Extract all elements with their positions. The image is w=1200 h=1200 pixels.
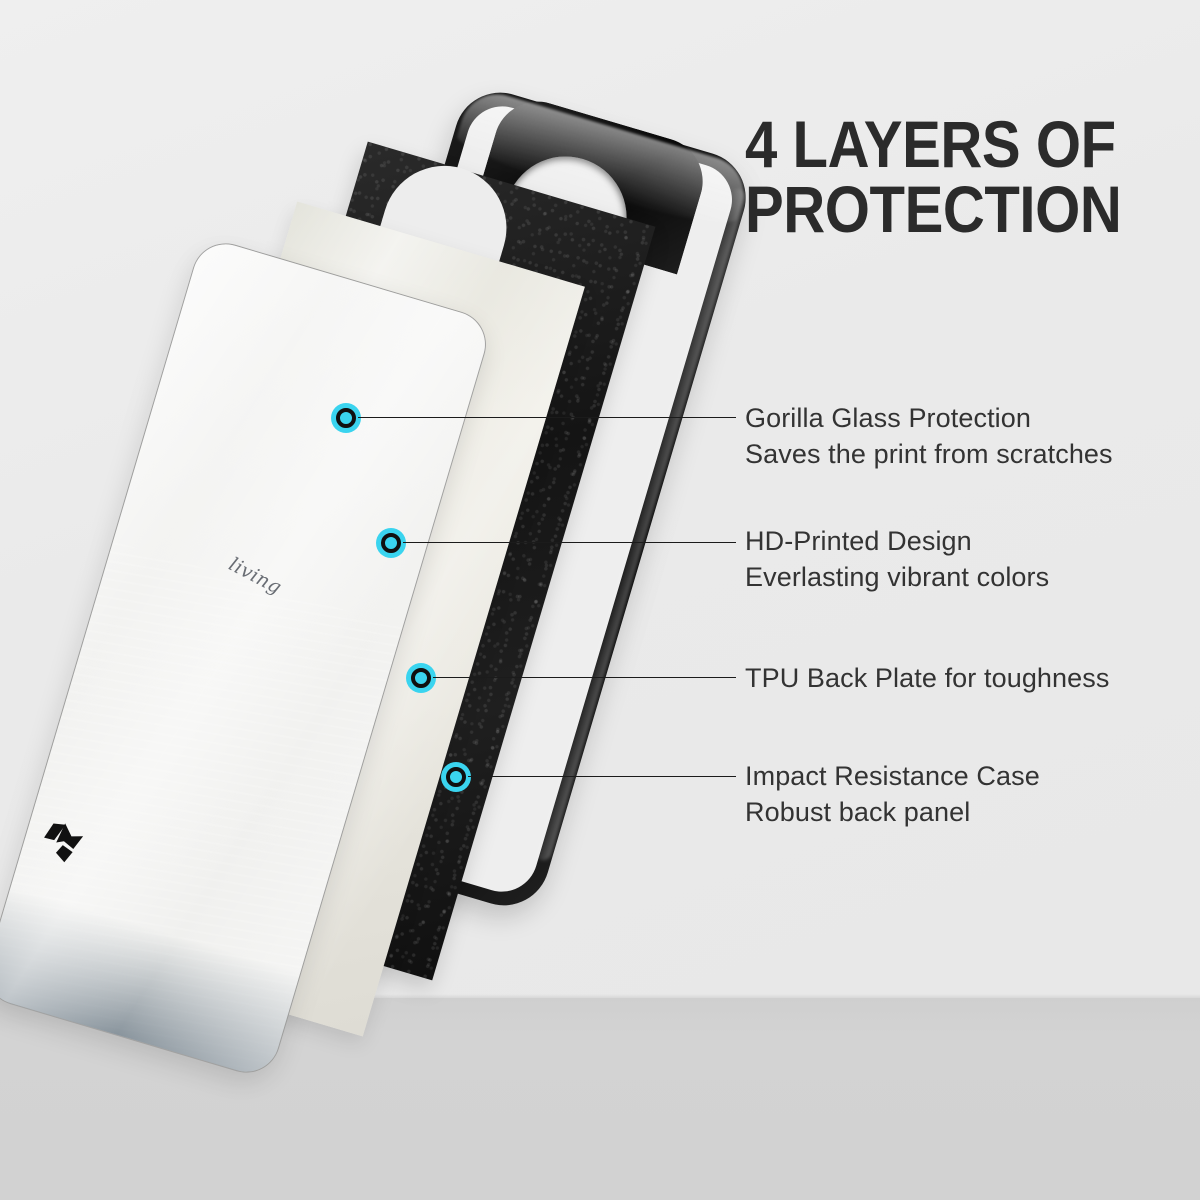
infographic-canvas: living Gorilla Glass Protection Saves th… xyxy=(0,0,1200,1200)
callout-subtitle-4: Robust back panel xyxy=(745,795,1040,831)
leader-line-2 xyxy=(403,542,736,543)
callout-subtitle-2: Everlasting vibrant colors xyxy=(745,560,1049,596)
leader-line-1 xyxy=(358,417,736,418)
layer-marker-impact-case[interactable] xyxy=(441,762,471,792)
callout-title-2: HD-Printed Design xyxy=(745,524,1049,560)
callout-text-4: Impact Resistance Case Robust back panel xyxy=(745,759,1040,830)
callout-title-3: TPU Back Plate for toughness xyxy=(745,661,1109,697)
exploded-phone-case-stack: living xyxy=(0,0,760,1060)
layer-marker-tpu-back-plate[interactable] xyxy=(406,663,436,693)
page-title: 4 LAYERS OF PROTECTION xyxy=(745,112,1115,241)
leader-line-3 xyxy=(433,677,736,678)
title-line-1: 4 LAYERS OF xyxy=(745,112,1115,177)
layer-marker-hd-print[interactable] xyxy=(376,528,406,558)
callout-title-4: Impact Resistance Case xyxy=(745,759,1040,795)
leader-line-4 xyxy=(468,776,736,777)
callout-text-3: TPU Back Plate for toughness xyxy=(745,661,1109,697)
callout-title-1: Gorilla Glass Protection xyxy=(745,401,1113,437)
callout-subtitle-1: Saves the print from scratches xyxy=(745,437,1113,473)
callout-text-1: Gorilla Glass Protection Saves the print… xyxy=(745,401,1113,472)
layer-marker-gorilla-glass[interactable] xyxy=(331,403,361,433)
title-line-2: PROTECTION xyxy=(745,177,1115,242)
callout-text-2: HD-Printed Design Everlasting vibrant co… xyxy=(745,524,1049,595)
